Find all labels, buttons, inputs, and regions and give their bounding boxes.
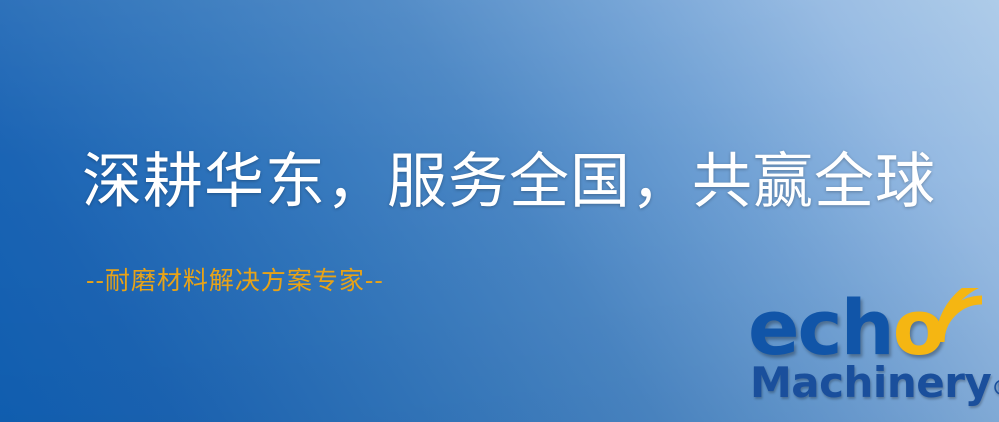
registered-trademark-icon: ® (991, 376, 999, 400)
banner-subtitle: --耐磨材料解决方案专家-- (86, 268, 384, 293)
company-logo: echo Machinery® (748, 296, 999, 422)
logo-echo-letters: echo (748, 290, 943, 366)
signal-waves-icon (924, 288, 999, 350)
promo-banner: 深耕华东，服务全国，共赢全球 --耐磨材料解决方案专家-- echo Machi… (0, 0, 999, 422)
logo-tagline-text: Machinery (750, 358, 991, 407)
page-title: 深耕华东，服务全国，共赢全球 (82, 152, 936, 212)
logo-tagline: Machinery® (750, 362, 999, 404)
